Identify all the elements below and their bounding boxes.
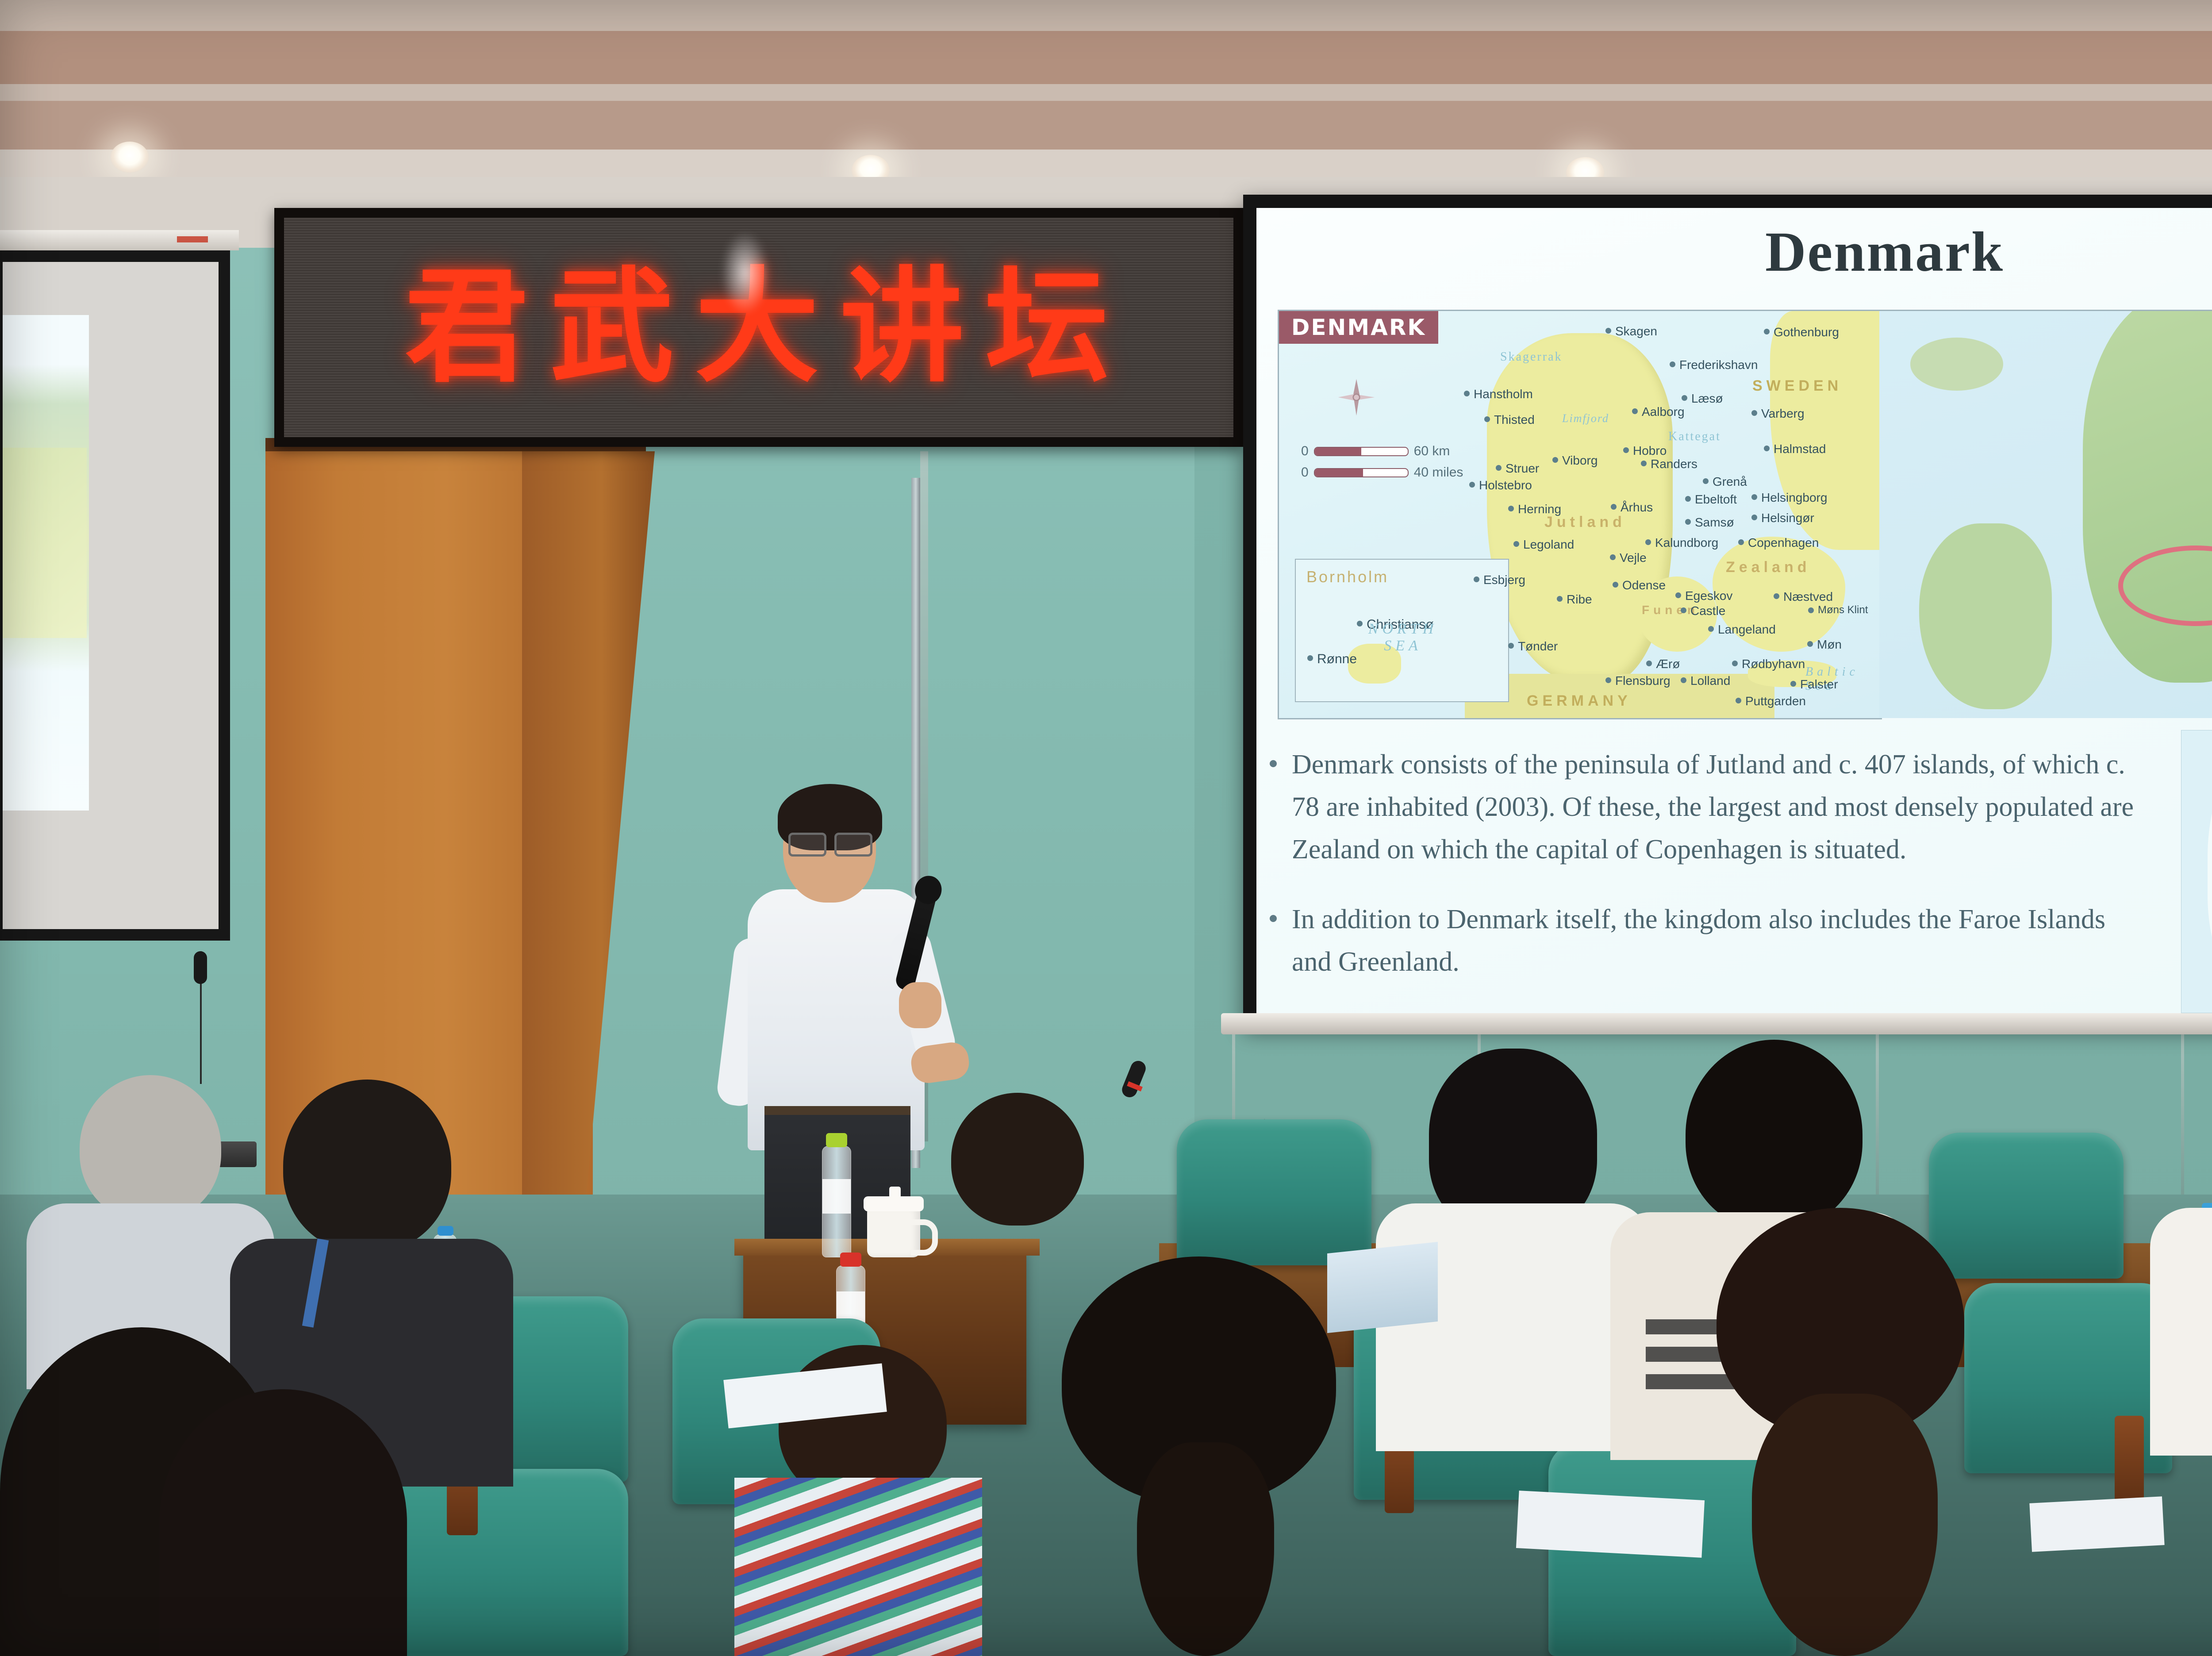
map-city-struer: Struer — [1505, 461, 1539, 476]
laptop-screen[interactable] — [1327, 1242, 1438, 1333]
secondary-screen-map-land — [3, 448, 87, 638]
lidded-teacup[interactable] — [867, 1208, 920, 1257]
map-city-helsingborg: Helsingborg — [1761, 491, 1827, 505]
slide-bullet-item: In addition to Denmark itself, the kingd… — [1270, 898, 2168, 983]
map-scale-bar — [1314, 447, 1409, 456]
map-city-thisted: Thisted — [1494, 413, 1535, 427]
map-sea-skagerrak: Skagerrak — [1500, 350, 1563, 364]
map-city-halmstad: Halmstad — [1774, 442, 1826, 456]
map-city-aalborg: Aalborg — [1642, 405, 1685, 419]
map-region-zealand: Zealand — [1726, 559, 1810, 576]
map-scale-zero: 0 — [1301, 444, 1309, 459]
teacup-lid — [864, 1196, 924, 1211]
bottle-label — [837, 1291, 865, 1322]
map-title-badge-text: DENMARK — [1291, 315, 1426, 340]
map-region-sweden: SWEDEN — [1752, 377, 1842, 395]
greenland-landmass — [2208, 753, 2212, 990]
map-city-falster: Falster — [1800, 677, 1838, 692]
map-city-randers: Randers — [1651, 457, 1697, 471]
presentation-slide: Denmark DENMARK — [1256, 208, 2212, 1013]
bornholm-inset-title: Bornholm — [1306, 568, 1389, 586]
led-banner: 君武大讲坛 — [274, 208, 1243, 447]
slide-bullet-list: Denmark consists of the peninsula of Jut… — [1270, 743, 2168, 1011]
audience-head — [1686, 1040, 1863, 1230]
teacup-handle — [911, 1219, 938, 1256]
secondary-screen-surface — [3, 262, 219, 929]
compass-rose-icon — [1336, 377, 1376, 417]
lecture-hall-photo: 君武大讲坛 陈 Denmark — [0, 0, 2212, 1656]
map-sea-kattegat: Kattegat — [1668, 430, 1721, 444]
auditorium-seat[interactable] — [1177, 1119, 1371, 1265]
map-city-frederikshavn: Frederikshavn — [1679, 358, 1758, 372]
map-scale-zero-2: 0 — [1301, 465, 1309, 480]
map-city-tonder: Tønder — [1518, 639, 1558, 653]
map-city-skagen: Skagen — [1615, 324, 1657, 338]
map-city-aero: Ærø — [1656, 657, 1680, 671]
map-scale-miles-label: 40 miles — [1414, 465, 1463, 480]
map-city-laeso: Læsø — [1691, 392, 1723, 406]
map-city-holstebro: Holstebro — [1479, 478, 1532, 492]
slide-bullet-text: In addition to Denmark itself, the kingd… — [1292, 898, 2146, 983]
led-banner-glare — [721, 231, 769, 315]
map-city-egeskov: Egeskov — [1685, 589, 1732, 603]
audience-ponytail — [1137, 1442, 1274, 1656]
secondary-projection-screen — [0, 250, 230, 941]
notepad[interactable] — [2029, 1496, 2164, 1552]
map-feature-limfjord: Limfjord — [1562, 412, 1609, 425]
map-city-gothenburg: Gothenburg — [1774, 325, 1839, 339]
eyeglasses-icon — [788, 833, 872, 852]
ceiling-band — [0, 84, 2212, 101]
map-city-flensburg: Flensburg — [1615, 674, 1671, 688]
ceiling-band — [0, 101, 2212, 150]
map-city-ribe: Ribe — [1567, 592, 1592, 607]
map-city-rodbyhavn: Rødbyhavn — [1742, 657, 1805, 671]
notepad[interactable] — [1516, 1491, 1705, 1558]
bottle-cap — [826, 1133, 847, 1147]
map-city-kalundborg: Kalundborg — [1655, 536, 1718, 550]
map-city-naestved: Næstved — [1783, 590, 1833, 604]
map-city-grena: Grenå — [1713, 475, 1747, 489]
audience-torso — [2150, 1208, 2212, 1456]
map-city-esbjerg: Esbjerg — [1483, 573, 1525, 587]
map-city-varberg: Varberg — [1761, 407, 1805, 421]
map-city-odense: Odense — [1622, 578, 1666, 592]
denmark-map: DENMARK 0 60 km 0 40 miles — [1278, 310, 1882, 719]
map-scale-miles: 0 40 miles — [1301, 465, 1463, 480]
map-city-hobro: Hobro — [1633, 444, 1667, 458]
audience-ponytail — [1752, 1394, 1938, 1656]
ceiling-band — [0, 0, 2212, 31]
bottle-label — [822, 1179, 851, 1214]
led-banner-screen: 君武大讲坛 — [284, 218, 1233, 437]
map-scale-km-label: 60 km — [1414, 444, 1450, 459]
audience-head — [80, 1075, 221, 1221]
bottle-cap — [438, 1226, 453, 1236]
map-city-herning: Herning — [1518, 502, 1561, 516]
map-city-legoland: Legoland — [1523, 538, 1574, 552]
map-city-castle: Castle — [1690, 604, 1725, 618]
map-city-mons-klint: Møns Klint — [1818, 604, 1868, 616]
ceiling-hanging-mic — [194, 951, 207, 984]
map-city-helsingor: Helsingør — [1761, 511, 1814, 525]
map-region-germany: GERMANY — [1527, 692, 1632, 710]
ceiling-band — [0, 31, 2212, 84]
inset-map-greenland — [2181, 730, 2212, 1013]
bottle-cap — [840, 1253, 861, 1267]
map-city-samso: Samsø — [1695, 515, 1734, 530]
map-city-puttgarden: Puttgarden — [1745, 694, 1806, 708]
map-city-vejle: Vejle — [1620, 551, 1647, 565]
auditorium-seat[interactable] — [1929, 1133, 2124, 1279]
auditorium-seat[interactable] — [380, 1469, 628, 1656]
speaker-hand-mic — [899, 982, 941, 1028]
ceiling — [0, 0, 2212, 186]
map-landmass-scandinavia — [2083, 310, 2212, 683]
slide-bullet-item: Denmark consists of the peninsula of Jut… — [1270, 743, 2168, 871]
map-city-ronne: Rønne — [1317, 652, 1357, 667]
seat-armrest — [2115, 1416, 2144, 1504]
slide-bullet-text: Denmark consists of the peninsula of Jut… — [1292, 743, 2146, 871]
teacup-lid-knob — [889, 1187, 901, 1198]
bullet-dot-icon — [1270, 760, 1277, 767]
slide-inset-maps — [2181, 730, 2212, 1013]
map-title-badge: DENMARK — [1279, 311, 1438, 344]
side-screen-logo — [177, 236, 208, 242]
map-scale-km: 0 60 km — [1301, 444, 1450, 459]
map-sea-north-sea: NORTH SEA — [1359, 621, 1447, 654]
map-city-viborg: Viborg — [1562, 453, 1598, 468]
map-city-hanstholm: Hanstholm — [1474, 387, 1533, 401]
map-city-lolland: Lolland — [1690, 674, 1730, 688]
map-landmass-iceland — [1910, 338, 2003, 391]
projection-screen-bottom-bar[interactable] — [1221, 1013, 2212, 1034]
audience-torso — [1376, 1203, 1650, 1451]
map-city-ebeltoft: Ebeltoft — [1695, 492, 1737, 507]
water-bottle[interactable] — [822, 1146, 851, 1257]
audience-head — [951, 1093, 1084, 1226]
map-landmass-british-isles — [1919, 523, 2052, 709]
audience-head — [283, 1080, 451, 1252]
map-city-copenhagen: Copenhagen — [1748, 536, 1819, 550]
slide-title: Denmark — [1256, 219, 2212, 284]
audience-head — [159, 1389, 407, 1656]
map-city-arhus: Århus — [1621, 500, 1653, 515]
bullet-dot-icon — [1270, 915, 1277, 922]
ceiling-downlight — [111, 142, 149, 173]
secondary-screen-map — [3, 315, 89, 811]
map-scale-bar-2 — [1314, 468, 1409, 477]
regional-map — [1879, 310, 2212, 718]
main-projection-screen: Denmark DENMARK — [1243, 195, 2212, 1026]
map-city-mon: Møn — [1817, 638, 1842, 652]
audience-torso-striped — [734, 1478, 982, 1656]
map-city-langeland: Langeland — [1718, 622, 1776, 637]
